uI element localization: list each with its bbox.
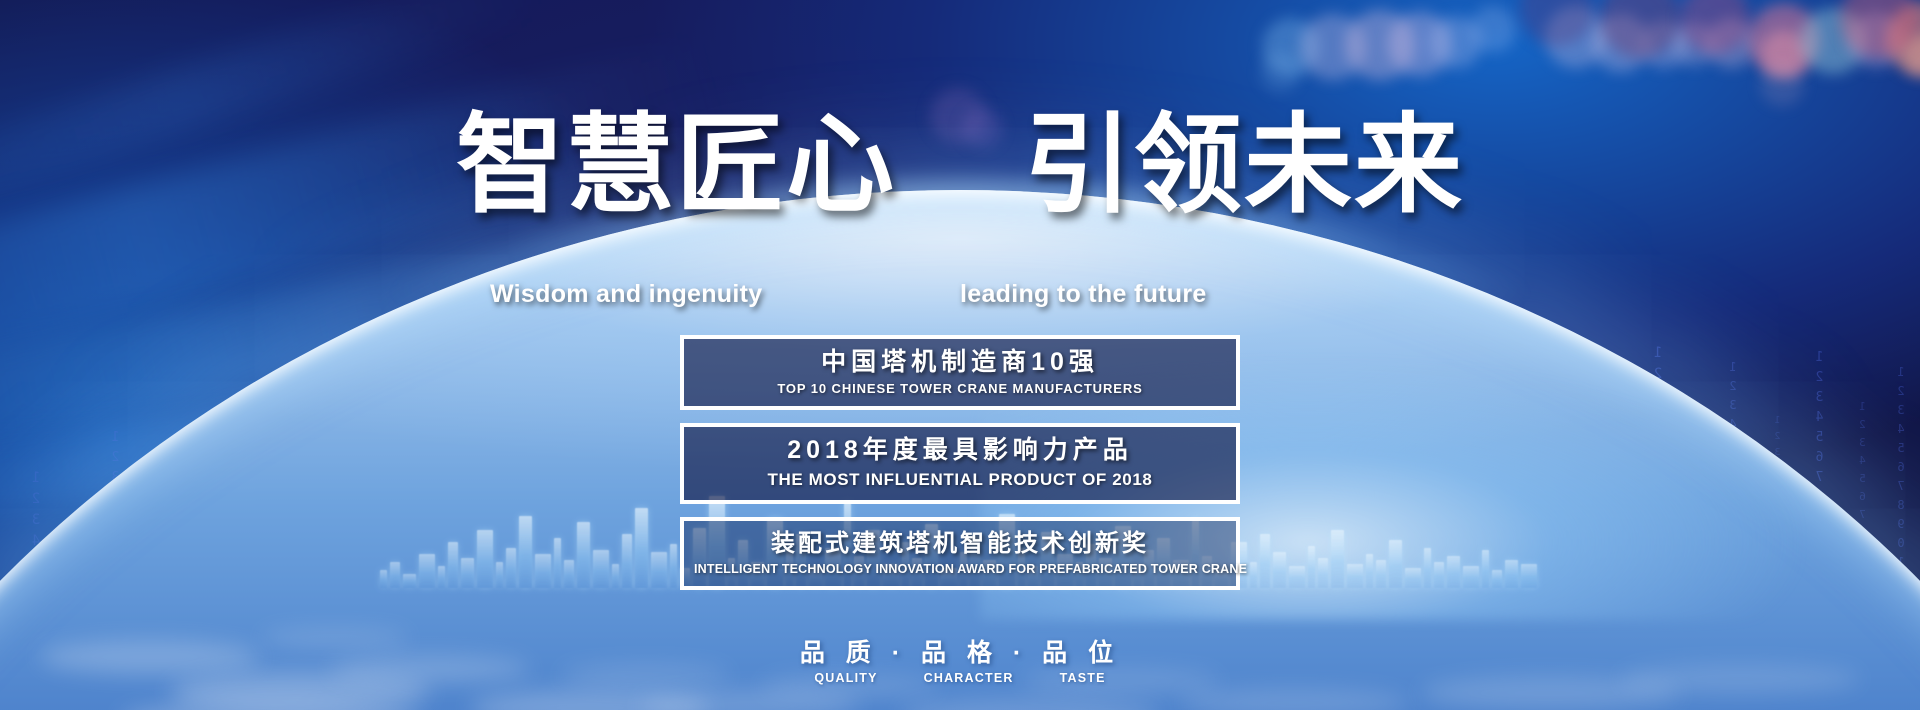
city-building [564, 560, 574, 588]
city-building [577, 522, 590, 588]
tagline: 品 质 · 品 格 · 品 位 QUALITY CHARACTER TASTE [800, 633, 1120, 685]
award-badge: 装配式建筑塔机智能技术创新奖 INTELLIGENT TECHNOLOGY IN… [680, 517, 1240, 590]
city-building [1376, 560, 1386, 588]
city-building [670, 544, 677, 588]
city-building [1250, 562, 1257, 588]
city-building [1273, 552, 1286, 588]
bokeh-circle [1470, 6, 1516, 52]
city-building [1405, 568, 1421, 588]
city-building [477, 530, 493, 588]
headline-subtitles: Wisdom and ingenuity leading to the futu… [0, 280, 1920, 309]
city-building [612, 564, 619, 588]
bokeh-circle [1760, 62, 1804, 106]
city-building [438, 566, 445, 588]
city-building [1366, 554, 1373, 588]
award-badge-title-cn: 2018年度最具影响力产品 [694, 435, 1226, 466]
city-building [593, 550, 609, 588]
city-building [403, 574, 416, 588]
tagline-en-taste: TASTE [1060, 671, 1106, 685]
city-building [651, 552, 667, 588]
city-building [506, 548, 516, 588]
city-building [1260, 534, 1270, 588]
city-building [1434, 562, 1444, 588]
award-badge-list: 中国塔机制造商10强 TOP 10 CHINESE TOWER CRANE MA… [680, 335, 1240, 590]
city-building [1482, 550, 1489, 588]
headline-left-en: Wisdom and ingenuity [490, 280, 960, 309]
city-building [1447, 556, 1460, 588]
city-building [1331, 530, 1344, 588]
award-badge-title-cn: 中国塔机制造商10强 [694, 347, 1226, 378]
award-badge-title-en: INTELLIGENT TECHNOLOGY INNOVATION AWARD … [694, 562, 1226, 576]
page-title: 智慧匠心 引领未来 [0, 108, 1920, 221]
headline-right-cn: 引领未来 [1024, 104, 1464, 225]
city-building [1389, 540, 1402, 588]
city-building [1463, 566, 1479, 588]
banner-canvas: 1234567890123456789012341234567890123456… [0, 0, 1920, 710]
city-building [535, 554, 551, 588]
headline-right-en: leading to the future [960, 280, 1430, 309]
city-building [519, 516, 532, 588]
city-building [554, 538, 561, 588]
award-badge-title-en: TOP 10 CHINESE TOWER CRANE MANUFACTURERS [694, 381, 1226, 396]
city-building [1308, 546, 1315, 588]
city-building [635, 508, 648, 588]
award-badge: 2018年度最具影响力产品 THE MOST INFLUENTIAL PRODU… [680, 423, 1240, 503]
award-badge-title-cn: 装配式建筑塔机智能技术创新奖 [694, 529, 1226, 559]
city-building [1424, 548, 1431, 588]
city-building [419, 554, 435, 588]
tagline-en: QUALITY CHARACTER TASTE [800, 671, 1120, 685]
city-building [622, 534, 632, 588]
city-building [380, 570, 387, 588]
award-badge: 中国塔机制造商10强 TOP 10 CHINESE TOWER CRANE MA… [680, 335, 1240, 410]
city-building [1347, 564, 1363, 588]
award-badge-title-en: THE MOST INFLUENTIAL PRODUCT OF 2018 [694, 470, 1226, 490]
city-building [1521, 564, 1537, 588]
tagline-en-character: CHARACTER [924, 671, 1014, 685]
bokeh-circle [1260, 52, 1300, 92]
city-building [496, 562, 503, 588]
city-building [461, 558, 474, 588]
tagline-cn: 品 质 · 品 格 · 品 位 [800, 633, 1120, 669]
headline-left-cn: 智慧匠心 [456, 104, 896, 225]
city-building [390, 562, 400, 588]
tagline-en-quality: QUALITY [814, 671, 877, 685]
city-building [1289, 566, 1305, 588]
city-building [1505, 560, 1518, 588]
city-building [1318, 558, 1328, 588]
city-building [448, 542, 458, 588]
city-building [1492, 570, 1502, 588]
